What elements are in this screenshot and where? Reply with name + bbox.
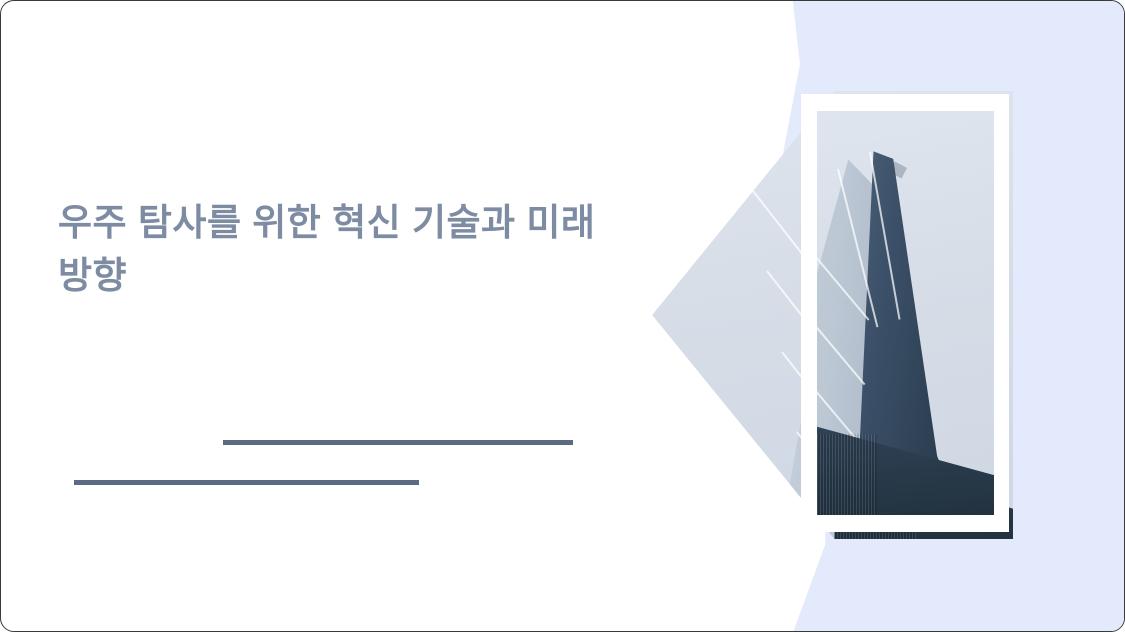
- accent-line-lower: [74, 480, 419, 485]
- tower-base-detail: [817, 434, 877, 515]
- presentation-slide: 우주 탐사를 위한 혁신 기술과 미래 방향: [0, 0, 1125, 632]
- photo-frame: [801, 94, 1009, 532]
- photo-image: [817, 111, 994, 515]
- page-title: 우주 탐사를 위한 혁신 기술과 미래 방향: [58, 197, 618, 302]
- accent-line-upper: [223, 440, 573, 445]
- skyscraper-artwork-framed: [817, 111, 994, 515]
